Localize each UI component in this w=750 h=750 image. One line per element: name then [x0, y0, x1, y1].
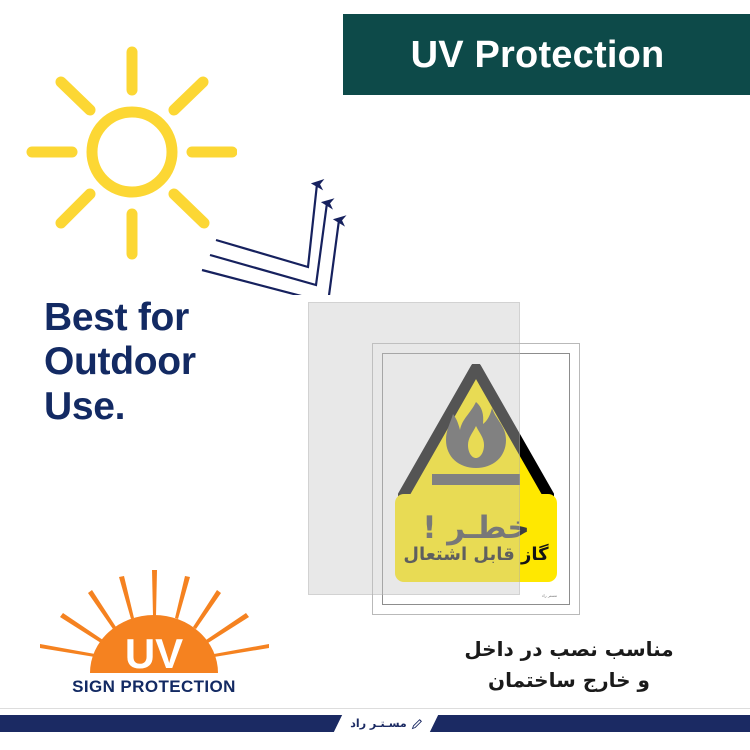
bottom-caption: مناسب نصب در داخل و خارج ساختمان [404, 634, 734, 696]
sign-inner-border: خطـر ! گاز قابل اشتعال مستر راد [382, 353, 570, 605]
sign-signature: مستر راد [542, 593, 557, 598]
footer-band-left [0, 715, 352, 732]
footer-brand-text: مسـتـر راد [350, 718, 406, 729]
danger-label-box: خطـر ! گاز قابل اشتعال [395, 494, 557, 582]
uv-reflection-arrows-icon [188, 160, 368, 295]
flammable-triangle [398, 364, 554, 506]
warning-sign: خطـر ! گاز قابل اشتعال مستر راد [372, 343, 580, 615]
pen-icon [410, 717, 424, 731]
danger-subtitle: گاز قابل اشتعال [403, 546, 548, 564]
poster-canvas: UV Protection [0, 0, 750, 750]
footer-divider [0, 708, 750, 709]
page-title: UV Protection [411, 36, 683, 74]
logo-uv-text: UV [125, 630, 183, 677]
logo-tagline: SIGN PROTECTION [72, 677, 236, 696]
footer-brand: مسـتـر راد [344, 713, 430, 734]
headline-text: Best for Outdoor Use. [44, 296, 304, 429]
footer-brand-bar: مسـتـر راد [0, 715, 750, 732]
danger-word: خطـر ! [422, 513, 529, 544]
header-bar: UV Protection [343, 14, 750, 95]
uv-sign-protection-logo: UV SIGN PROTECTION [28, 568, 280, 700]
footer-band-right [420, 715, 750, 732]
